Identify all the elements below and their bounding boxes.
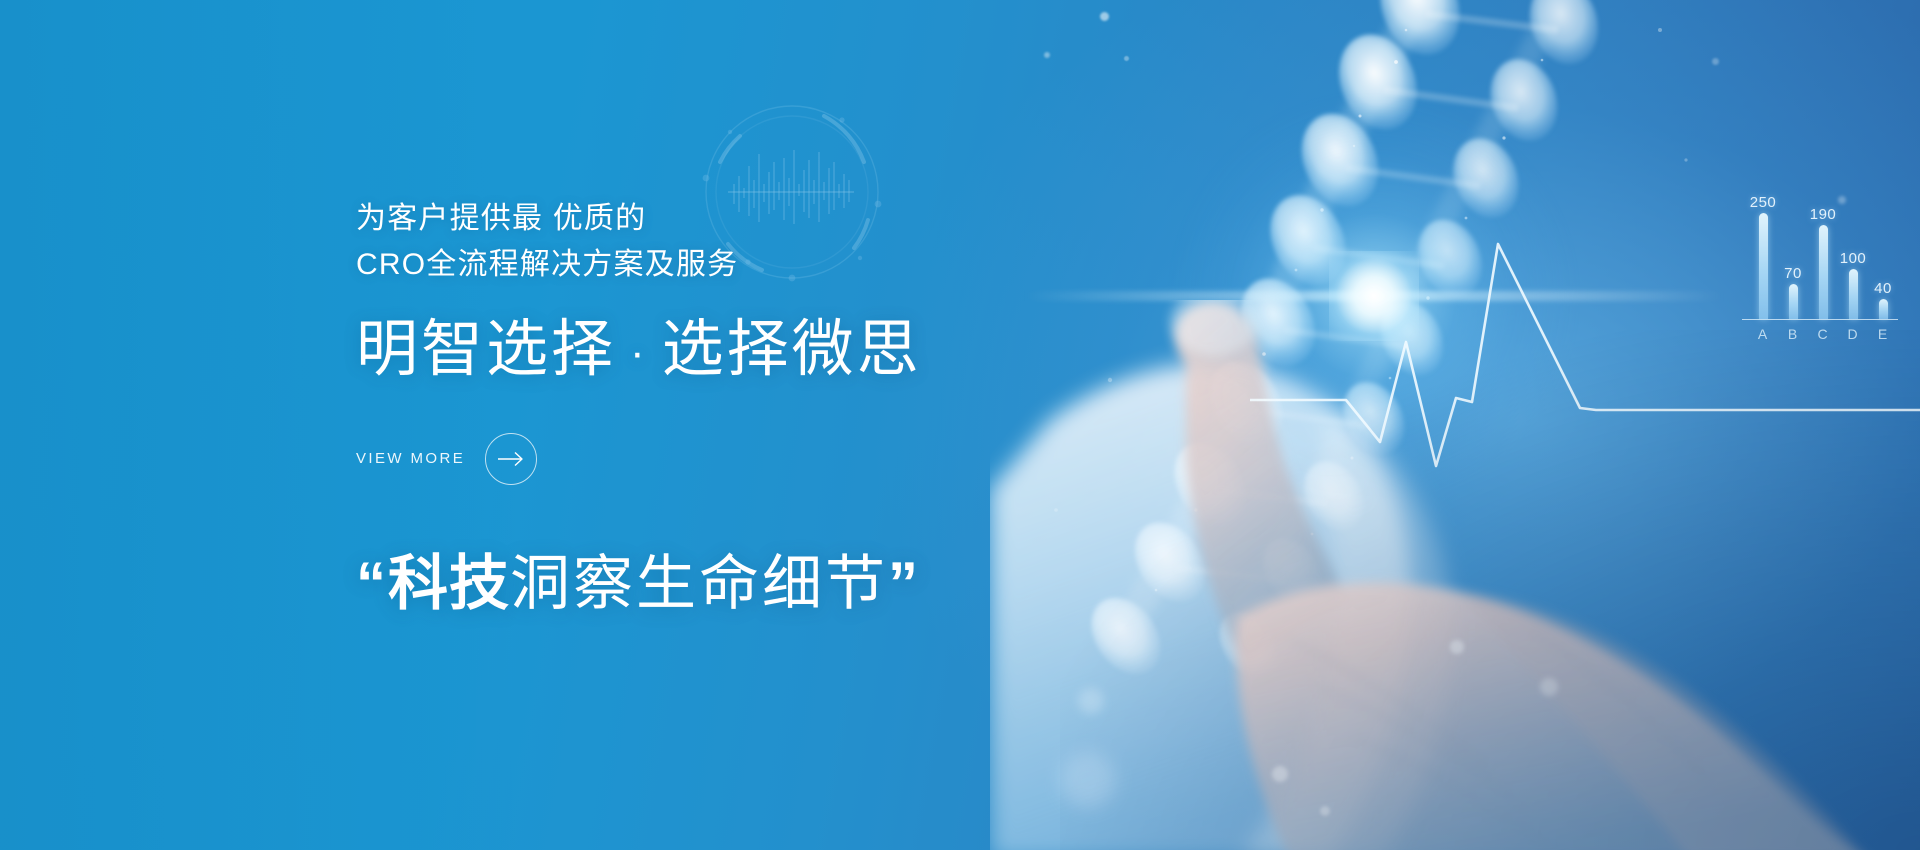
chart-value-a: 250 [1750, 195, 1777, 210]
chart-bar-c: 190 [1808, 195, 1838, 319]
quote-close-mark: ” [888, 550, 920, 617]
hero-banner: 250 70 190 100 40 A B C D [0, 0, 1920, 850]
quote-strong-text: 科技 [388, 550, 510, 617]
hero-subtitle: 为客户提供最 优质的 CRO全流程解决方案及服务 [356, 196, 1116, 287]
chart-bar-fill-a [1759, 213, 1768, 319]
chart-bar-b: 70 [1778, 195, 1808, 319]
chart-bar-a: 250 [1748, 195, 1778, 319]
chart-bar-fill-c [1819, 225, 1828, 319]
arrow-right-icon[interactable] [485, 433, 537, 485]
chart-category-labels: A B C D E [1748, 324, 1898, 344]
view-more-label: VIEW MORE [356, 450, 465, 467]
hero-headline-separator: · [616, 328, 662, 377]
quote-open-mark: “ [356, 550, 388, 617]
quote-light-text: 洞察生命细节 [510, 550, 888, 617]
chart-label-e: E [1868, 326, 1898, 342]
chart-value-d: 100 [1840, 251, 1867, 266]
chart-label-c: C [1808, 326, 1838, 342]
chart-axis-line [1742, 319, 1898, 320]
chart-value-b: 70 [1784, 266, 1802, 281]
chart-bar-fill-b [1789, 284, 1798, 319]
chart-label-d: D [1838, 326, 1868, 342]
hero-headline-right: 选择微思 [662, 315, 922, 384]
chart-value-e: 40 [1874, 281, 1892, 296]
view-more-button[interactable]: VIEW MORE [356, 433, 537, 485]
chart-bar-d: 100 [1838, 195, 1868, 319]
bar-chart: 250 70 190 100 40 A B C D [1742, 182, 1920, 344]
chart-label-a: A [1748, 326, 1778, 342]
chart-label-b: B [1778, 326, 1808, 342]
hero-headline-left: 明智选择 [356, 315, 616, 384]
hero-subtitle-line-2: CRO全流程解决方案及服务 [356, 242, 1116, 288]
hero-content: 为客户提供最 优质的 CRO全流程解决方案及服务 明智选择·选择微思 VIEW … [356, 196, 1116, 617]
chart-bar-e: 40 [1868, 195, 1898, 319]
hero-quote: “科技洞察生命细节” [356, 551, 1116, 617]
chart-bar-fill-e [1879, 299, 1888, 319]
hero-subtitle-line-1: 为客户提供最 优质的 [356, 196, 1116, 242]
chart-bars: 250 70 190 100 40 [1748, 195, 1898, 319]
hero-headline: 明智选择·选择微思 [356, 315, 1116, 384]
chart-bar-fill-d [1849, 269, 1858, 319]
chart-value-c: 190 [1810, 207, 1837, 222]
